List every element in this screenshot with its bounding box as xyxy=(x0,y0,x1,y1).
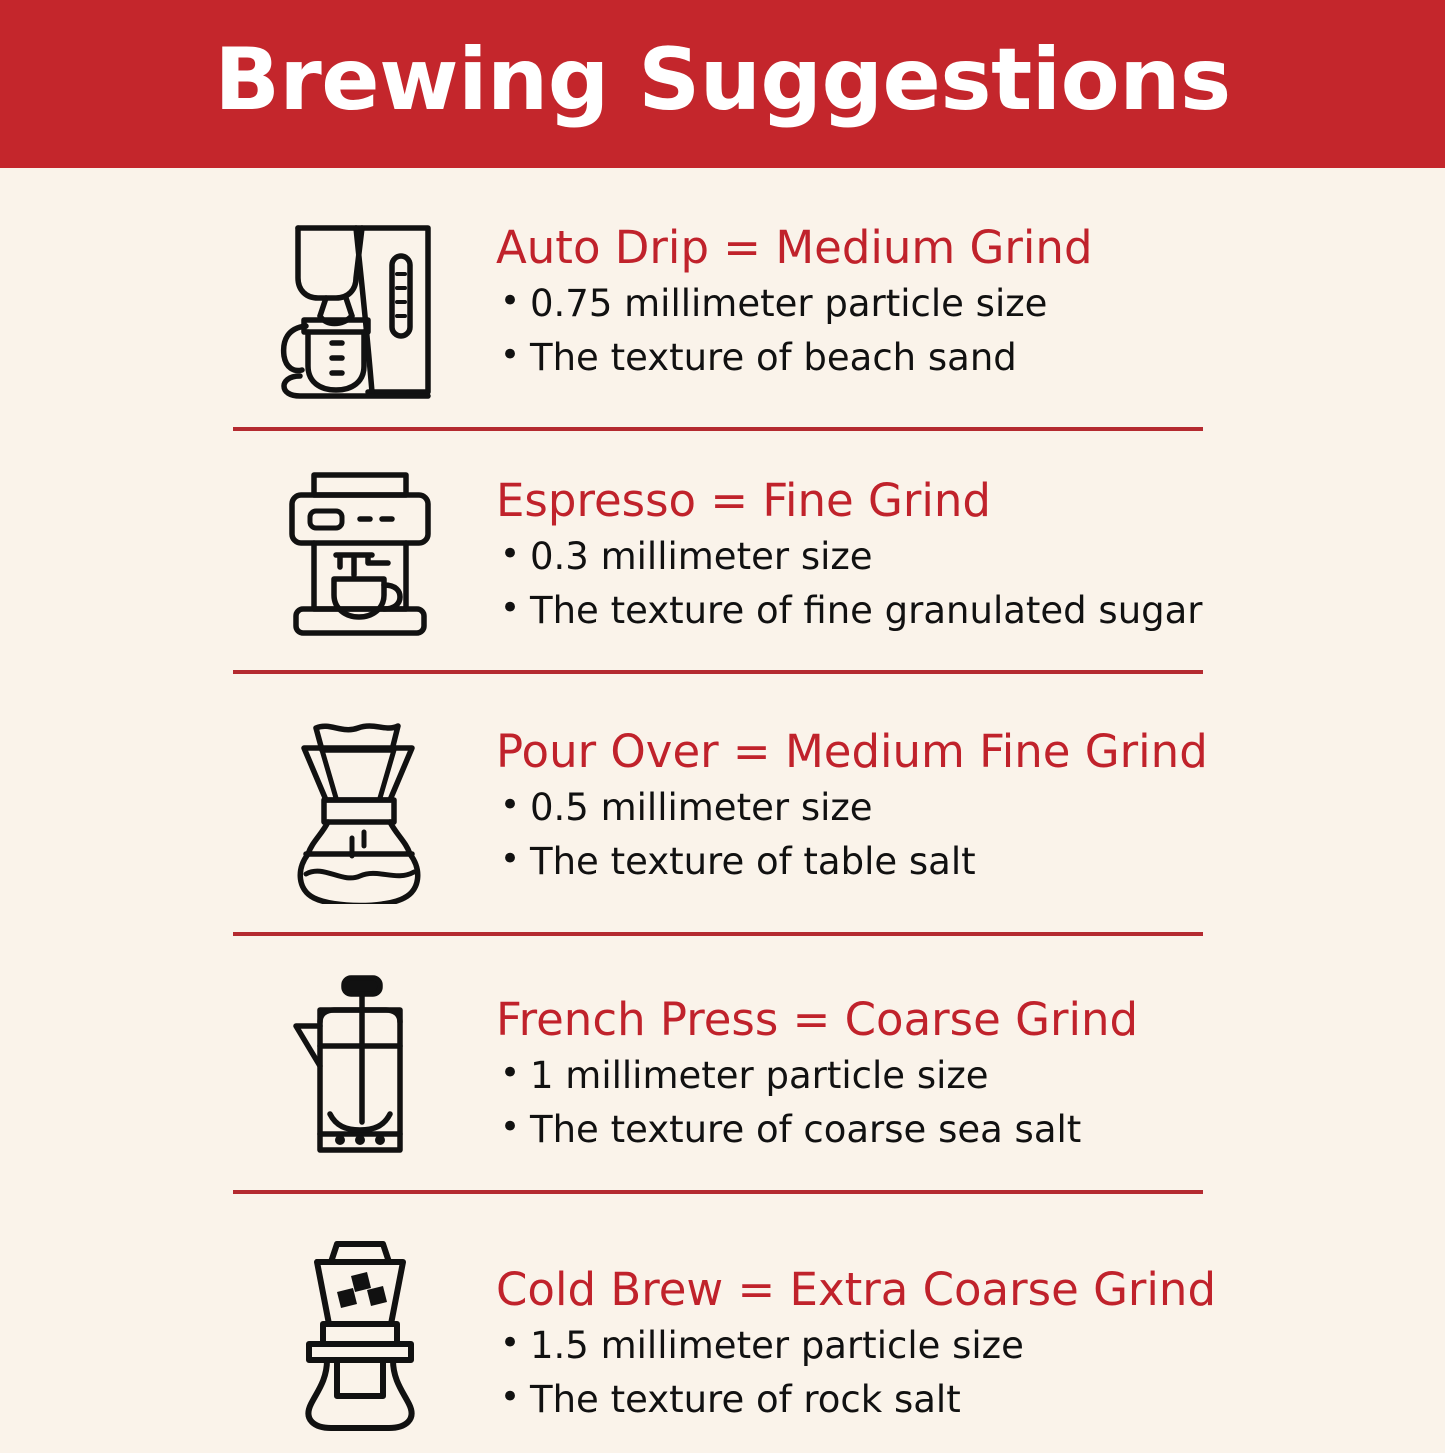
page-header-banner: Brewing Suggestions xyxy=(0,0,1445,168)
espresso-text-block: Espresso = Fine Grind 0.3 millimeter siz… xyxy=(488,467,1445,638)
pour-over-heading: Pour Over = Medium Fine Grind xyxy=(496,728,1405,777)
list-item: The texture of coarse sea salt xyxy=(496,1103,1405,1157)
list-item-pour-over: Pour Over = Medium Fine Grind 0.5 millim… xyxy=(0,682,1445,924)
pour-over-bullets: 0.5 millimeter size The texture of table… xyxy=(496,781,1405,889)
auto-drip-coffee-maker-icon xyxy=(0,216,488,401)
cold-brew-text-block: Cold Brew = Extra Coarse Grind 1.5 milli… xyxy=(488,1238,1445,1427)
auto-drip-heading: Auto Drip = Medium Grind xyxy=(496,224,1405,273)
list-item: 1.5 millimeter particle size xyxy=(496,1319,1405,1373)
espresso-heading: Espresso = Fine Grind xyxy=(496,477,1405,526)
pour-over-text-block: Pour Over = Medium Fine Grind 0.5 millim… xyxy=(488,714,1445,889)
list-item: The texture of beach sand xyxy=(496,331,1405,385)
page-title: Brewing Suggestions xyxy=(214,37,1230,123)
french-press-heading: French Press = Coarse Grind xyxy=(496,996,1405,1045)
french-press-text-block: French Press = Coarse Grind 1 millimeter… xyxy=(488,974,1445,1157)
list-item: 0.5 millimeter size xyxy=(496,781,1405,835)
list-item-cold-brew: Cold Brew = Extra Coarse Grind 1.5 milli… xyxy=(0,1202,1445,1453)
cold-brew-bullets: 1.5 millimeter particle size The texture… xyxy=(496,1319,1405,1427)
list-item-espresso: Espresso = Fine Grind 0.3 millimeter siz… xyxy=(0,439,1445,660)
list-item: The texture of rock salt xyxy=(496,1373,1405,1427)
espresso-machine-icon xyxy=(0,467,488,642)
espresso-bullets: 0.3 millimeter size The texture of fine … xyxy=(496,530,1405,638)
list-item-auto-drip: Auto Drip = Medium Grind 0.75 millimeter… xyxy=(0,168,1445,421)
list-item: The texture of table salt xyxy=(496,835,1405,889)
cold-brew-tower-icon xyxy=(0,1238,488,1433)
list-item: 0.75 millimeter particle size xyxy=(496,277,1405,331)
list-item-french-press: French Press = Coarse Grind 1 millimeter… xyxy=(0,944,1445,1182)
brewing-methods-list: Auto Drip = Medium Grind 0.75 millimeter… xyxy=(0,168,1445,1453)
french-press-bullets: 1 millimeter particle size The texture o… xyxy=(496,1049,1405,1157)
auto-drip-text-block: Auto Drip = Medium Grind 0.75 millimeter… xyxy=(488,216,1445,385)
section-divider xyxy=(233,670,1203,674)
list-item: The texture of fine granulated sugar xyxy=(496,584,1405,638)
list-item: 0.3 millimeter size xyxy=(496,530,1405,584)
infographic-page: Brewing Suggestions xyxy=(0,0,1445,1445)
cold-brew-heading: Cold Brew = Extra Coarse Grind xyxy=(496,1266,1405,1315)
pour-over-chemex-icon xyxy=(0,714,488,904)
list-item: 1 millimeter particle size xyxy=(496,1049,1405,1103)
auto-drip-bullets: 0.75 millimeter particle size The textur… xyxy=(496,277,1405,385)
section-divider xyxy=(233,932,1203,936)
french-press-icon xyxy=(0,974,488,1164)
section-divider xyxy=(233,1190,1203,1194)
section-divider xyxy=(233,427,1203,431)
